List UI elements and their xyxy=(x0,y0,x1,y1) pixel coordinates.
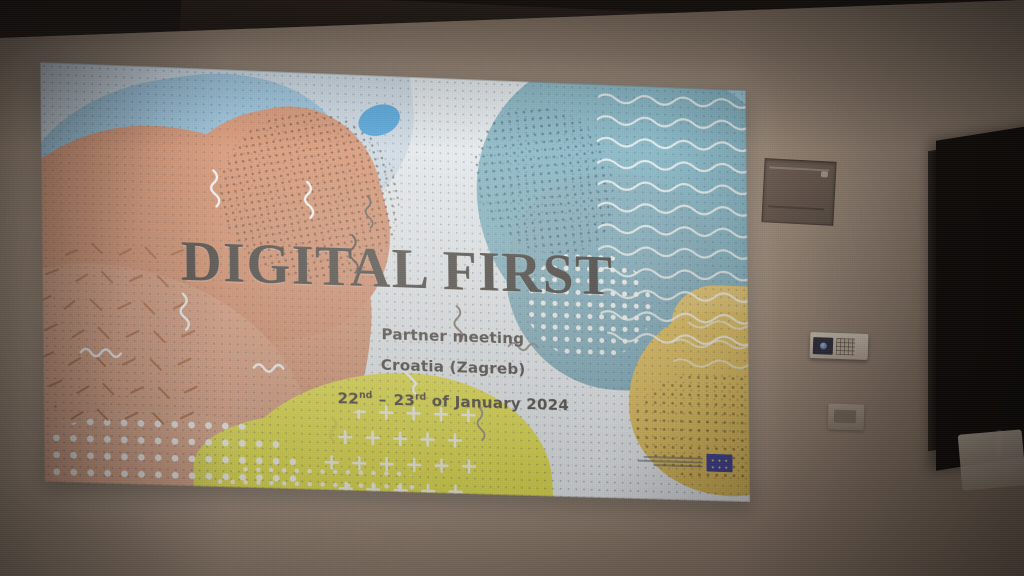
eu-funding-logo xyxy=(634,448,733,476)
date-day-first: 22 xyxy=(337,389,359,408)
wall-panel-knob[interactable] xyxy=(821,171,828,177)
slide-subtitle-block: Partner meeting Croatia (Zagreb) 22nd – … xyxy=(291,316,615,422)
doorway xyxy=(936,123,1024,470)
eu-flag-icon xyxy=(706,454,732,472)
slide-title: DIGITAL FIRST xyxy=(42,224,749,313)
date-day-first-ordinal: nd xyxy=(359,390,372,401)
date-day-second-ordinal: rd xyxy=(415,392,426,403)
furniture-edge xyxy=(958,429,1024,490)
thermostat-display xyxy=(813,337,834,355)
photo-scene: DIGITAL FIRST Partner meeting Croatia (Z… xyxy=(0,0,1024,576)
date-day-second: 23 xyxy=(393,391,415,409)
projection-screen: DIGITAL FIRST Partner meeting Croatia (Z… xyxy=(40,62,750,502)
date-dash: – xyxy=(372,390,393,408)
wall-panel xyxy=(761,158,836,226)
light-switch[interactable] xyxy=(828,403,865,430)
date-month-year: of January 2024 xyxy=(426,392,569,414)
thermostat-control[interactable] xyxy=(810,332,869,360)
eu-stars xyxy=(709,457,729,469)
presentation-slide: DIGITAL FIRST Partner meeting Croatia (Z… xyxy=(40,62,750,502)
eu-logo-text-lines xyxy=(634,456,703,467)
slide-text-block: DIGITAL FIRST Partner meeting Croatia (Z… xyxy=(40,62,750,502)
projection-screen-wrap: DIGITAL FIRST Partner meeting Croatia (Z… xyxy=(0,0,1024,576)
thermostat-grille xyxy=(836,337,856,355)
thermostat-dial-icon xyxy=(819,342,826,349)
